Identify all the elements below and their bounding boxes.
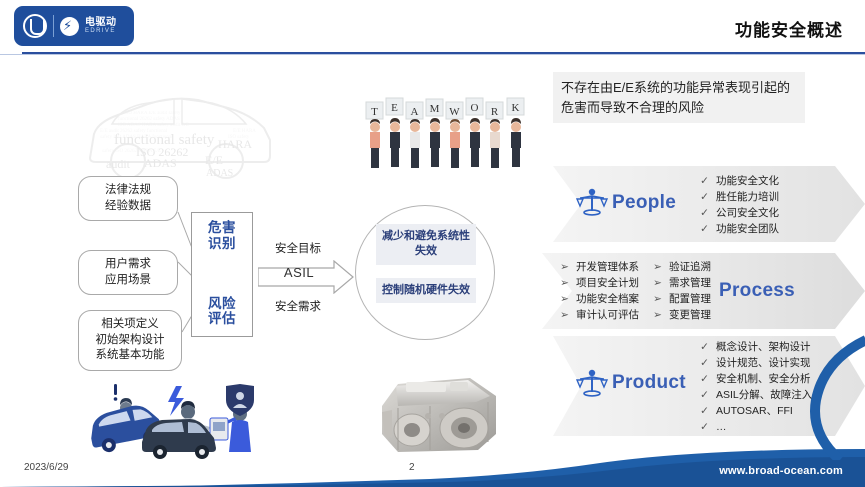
list-item-label: 胜任能力培训 (716, 190, 779, 206)
svg-text:E/E HARA: E/E HARA (233, 129, 256, 134)
callout-line: 法律法规 (87, 183, 169, 199)
list-item-label: 功能安全文化 (716, 174, 779, 190)
hara-hazard-identification: 危害 识别 (192, 220, 252, 251)
goal-systematic-failures: 减少和避免系统性失效 (376, 224, 476, 265)
callout-legal-data: 法律法规 经验数据 (78, 176, 178, 221)
asil-label: ASIL (258, 265, 340, 280)
list-item: ➢项目安全计划 (560, 276, 639, 292)
check-icon: ✓ (700, 190, 709, 206)
list-item-label: 功能安全档案 (576, 292, 639, 308)
cloud-word-5: audit (106, 157, 131, 171)
arrow-bullet-icon: ➢ (653, 260, 662, 276)
list-item: ➢验证追溯 (653, 260, 711, 276)
edrive-bolt-icon (60, 17, 79, 36)
process-bullet-columns: ➢开发管理体系 ➢项目安全计划 ➢功能安全档案 ➢审计认可评估 ➢验证追溯 ➢需… (560, 260, 711, 324)
check-icon: ✓ (700, 222, 709, 238)
list-item-label: 变更管理 (669, 308, 711, 324)
list-item-label: … (716, 420, 727, 436)
corner-arc-decoration (770, 330, 865, 460)
svg-text:safety ISO ADAS HARA functiona: safety ISO ADAS HARA functional (100, 135, 173, 140)
hara-line: 评估 (208, 311, 236, 326)
hara-risk-assessment: 风险 评估 (192, 296, 252, 327)
arrow-bullet-icon: ➢ (560, 260, 569, 276)
safety-goal-ellipse: 减少和避免系统性失效 控制随机硬件失效 (355, 205, 495, 340)
cloud-word-4: E/E (205, 153, 223, 167)
safety-definition-statement: 不存在由E/E系统的功能异常表现引起的危害而导致不合理的风险 (553, 72, 805, 123)
list-item: ✓胜任能力培训 (700, 190, 779, 206)
hara-line: 危害 (208, 220, 236, 235)
list-item: ➢审计认可评估 (560, 308, 639, 324)
callout-line: 初始架构设计 (87, 333, 173, 349)
asil-top-label: 安全目标 (258, 240, 338, 256)
check-icon: ✓ (700, 388, 709, 404)
check-icon: ✓ (700, 404, 709, 420)
svg-text:M: M (430, 103, 440, 115)
list-item: ➢开发管理体系 (560, 260, 639, 276)
list-item: ✓功能安全团队 (700, 222, 779, 238)
svg-text:O: O (471, 102, 479, 114)
company-logo: 电驱动 EDRIVE (14, 6, 134, 46)
check-icon: ✓ (700, 174, 709, 190)
svg-text:ISO ADAS HARA safety audit E/E: ISO ADAS HARA safety audit E/E (118, 123, 189, 128)
svg-text:K: K (512, 102, 520, 114)
header-rule-thin (0, 54, 865, 55)
svg-text:R: R (491, 106, 499, 118)
list-item-label: 配置管理 (669, 292, 711, 308)
svg-text:A: A (411, 106, 419, 118)
arrow-bullet-icon: ➢ (560, 308, 569, 324)
check-icon: ✓ (700, 206, 709, 222)
cloud-word-6: ADAS (206, 168, 233, 179)
check-icon: ✓ (700, 372, 709, 388)
people-bullet-list: ✓功能安全文化 ✓胜任能力培训 ✓公司安全文化 ✓功能安全团队 (700, 174, 779, 238)
list-item-label: 审计认可评估 (576, 308, 639, 324)
footer-website-url: www.broad-ocean.com (719, 465, 843, 477)
list-item: ➢需求管理 (653, 276, 711, 292)
teamwork-illustration: T E A M W O R K (362, 86, 532, 174)
check-icon: ✓ (700, 356, 709, 372)
car-wordcloud-image: functional safety ISO 26262 ADAS HARA E/… (78, 82, 278, 180)
arrow-bullet-icon: ➢ (653, 276, 662, 292)
hara-line: 风险 (208, 296, 236, 311)
callout-line: 相关项定义 (87, 317, 173, 333)
callout-item-definition: 相关项定义 初始架构设计 系统基本功能 (78, 310, 182, 371)
asil-arrow-group: 安全目标 ASIL 安全需求 (258, 240, 354, 318)
asil-bottom-label: 安全需求 (258, 298, 338, 314)
callout-line: 系统基本功能 (87, 348, 173, 364)
callout-line: 用户需求 (87, 257, 169, 273)
pillar-title-product: Product (612, 372, 686, 394)
check-icon: ✓ (700, 420, 709, 436)
product-scales-icon (575, 367, 609, 401)
pillar-title-people: People (612, 192, 676, 214)
list-item-label: 项目安全计划 (576, 276, 639, 292)
list-item-label: 开发管理体系 (576, 260, 639, 276)
process-column-1: ➢开发管理体系 ➢项目安全计划 ➢功能安全档案 ➢审计认可评估 (560, 260, 639, 324)
arrow-bullet-icon: ➢ (560, 292, 569, 308)
arrow-bullet-icon: ➢ (653, 292, 662, 308)
list-item: ➢配置管理 (653, 292, 711, 308)
svg-text:ISO safety: ISO safety (228, 135, 250, 140)
svg-text:E: E (391, 102, 398, 114)
page-title: 功能安全概述 (735, 16, 843, 41)
list-item-label: 验证追溯 (669, 260, 711, 276)
car-accident-illustration (80, 378, 266, 460)
list-item-label: 功能安全团队 (716, 222, 779, 238)
cloud-word-2: ADAS (144, 156, 177, 170)
list-item: ➢变更管理 (653, 308, 711, 324)
callout-line: 应用场景 (87, 273, 169, 289)
hara-box: 危害 识别 风险 评估 (191, 212, 253, 337)
callout-line: 经验数据 (87, 199, 169, 215)
hara-line: 识别 (208, 236, 236, 251)
callout-user-needs: 用户需求 应用场景 (78, 250, 178, 295)
svg-text:E/E audit 26262 safety functio: E/E audit 26262 safety functional (100, 129, 168, 134)
list-item: ➢功能安全档案 (560, 292, 639, 308)
svg-text:T: T (371, 106, 378, 118)
logo-divider (53, 15, 54, 37)
pillar-title-process: Process (719, 280, 795, 302)
people-scales-icon (575, 186, 609, 220)
process-column-2: ➢验证追溯 ➢需求管理 ➢配置管理 ➢变更管理 (653, 260, 711, 324)
goal-random-hw-failures: 控制随机硬件失效 (376, 278, 476, 303)
edrive-motor-image (372, 372, 506, 458)
logo-brand-en: EDRIVE (85, 28, 117, 34)
list-item: ✓公司安全文化 (700, 206, 779, 222)
svg-text:functional 26262 safety ADAS: functional 26262 safety ADAS (118, 117, 180, 122)
list-item-label: 公司安全文化 (716, 206, 779, 222)
svg-text:W: W (449, 106, 460, 118)
arrow-bullet-icon: ➢ (653, 308, 662, 324)
list-item-label: 需求管理 (669, 276, 711, 292)
svg-text:ISO HARA E/E audit safety: ISO HARA E/E audit safety (124, 111, 181, 116)
logo-brand-cn: 电驱动 (85, 18, 117, 28)
svg-text:safety ISO 26262 HARA E/E: safety ISO 26262 HARA E/E (102, 149, 161, 154)
broad-ocean-mark-icon (23, 14, 47, 38)
logo-wordmark: 电驱动 EDRIVE (85, 18, 117, 34)
slide-canvas: 电驱动 EDRIVE 功能安全概述 functional safety ISO … (0, 0, 865, 487)
arrow-bullet-icon: ➢ (560, 276, 569, 292)
check-icon: ✓ (700, 340, 709, 356)
list-item: ✓功能安全文化 (700, 174, 779, 190)
